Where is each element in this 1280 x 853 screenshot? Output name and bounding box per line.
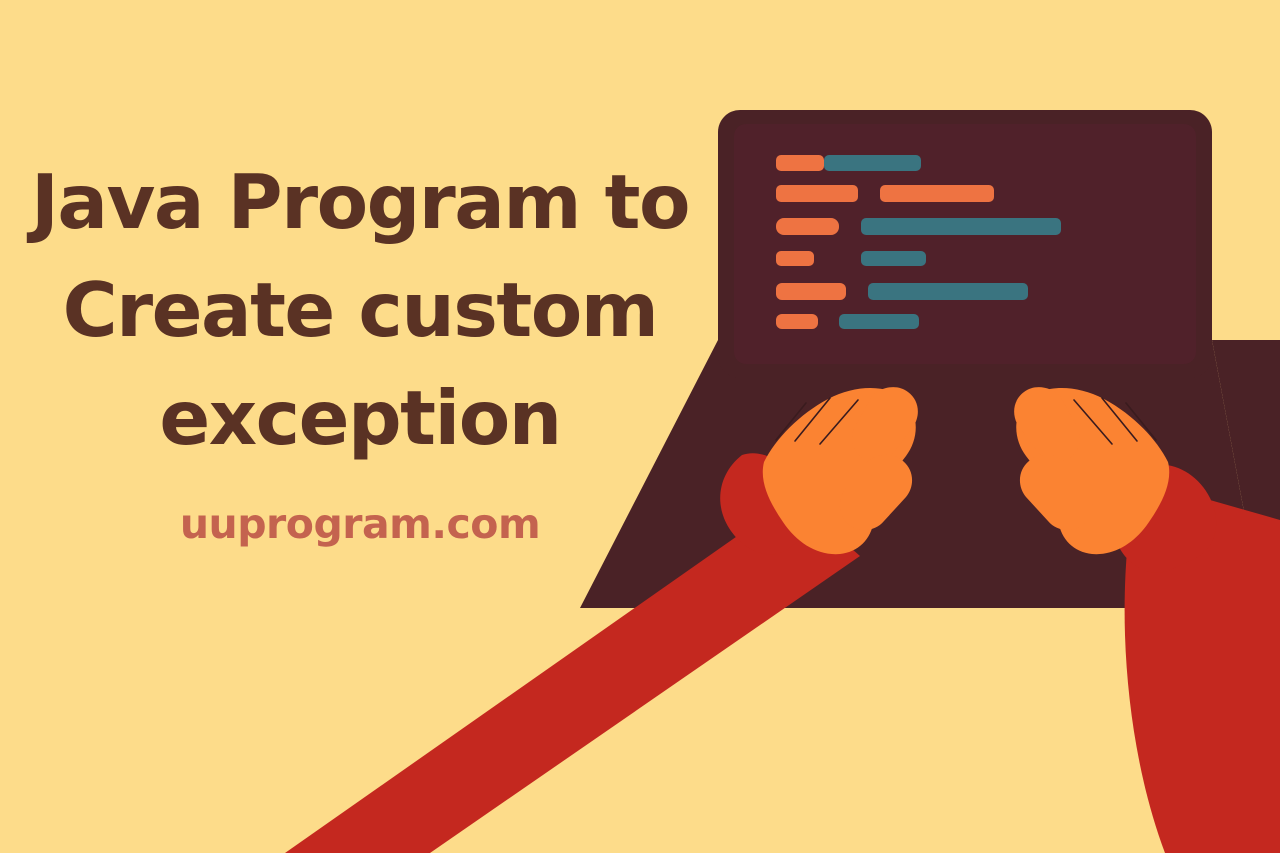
code-value-bar xyxy=(880,185,994,202)
code-keyword-bar xyxy=(776,185,858,202)
page-title-line-2: Create custom xyxy=(10,256,710,364)
code-keyword-bar xyxy=(776,314,818,329)
code-keyword-bar xyxy=(776,155,824,171)
page-title-line-1: Java Program to xyxy=(10,148,710,256)
code-value-bar xyxy=(868,283,1028,300)
site-url-label: uuprogram.com xyxy=(10,500,710,548)
code-keyword-bar xyxy=(776,283,846,300)
code-value-bar xyxy=(861,251,926,266)
code-value-bar xyxy=(839,314,919,329)
code-value-bar xyxy=(861,218,1061,235)
text-block: Java Program to Create custom exception … xyxy=(10,148,710,548)
code-keyword-bar xyxy=(776,218,839,235)
page-title-line-3: exception xyxy=(10,364,710,472)
code-keyword-bar xyxy=(776,251,814,266)
blog-banner: Java Program to Create custom exception … xyxy=(0,0,1280,853)
code-value-bar xyxy=(824,155,921,171)
